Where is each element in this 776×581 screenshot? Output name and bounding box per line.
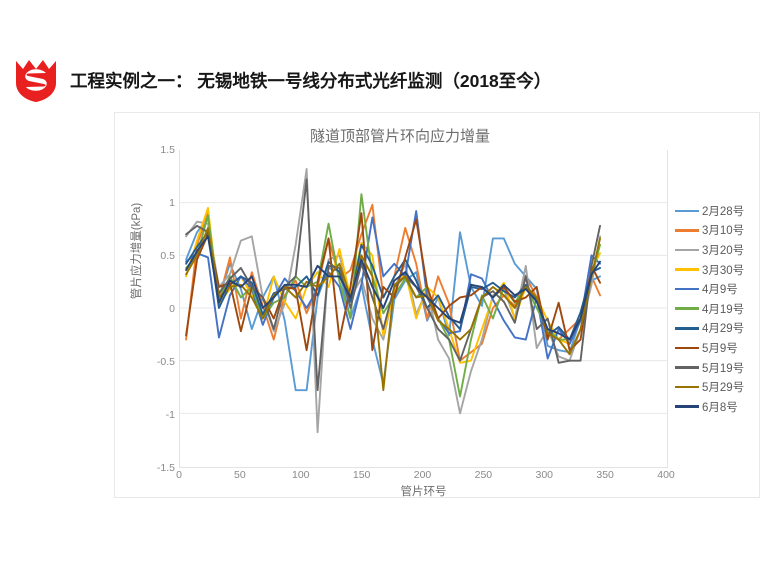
legend-item-label: 3月30号 — [702, 262, 744, 278]
x-tick-label: 350 — [585, 469, 625, 481]
legend-item-label: 2月28号 — [702, 203, 744, 219]
y-tick-label: 0.5 — [141, 250, 175, 262]
legend-item-label: 5月9号 — [702, 340, 738, 356]
legend-item[interactable]: 6月8号 — [675, 397, 761, 417]
chart-card: 隧道顶部管片环向应力增量 1.510.50-0.5-1-1.5 管片应力增量(k… — [114, 112, 760, 498]
x-tick-label: 50 — [220, 469, 260, 481]
y-tick-label: -0.5 — [141, 356, 175, 368]
legend-item[interactable]: 4月9号 — [675, 279, 761, 299]
y-tick-label: -1 — [141, 409, 175, 421]
chart-legend: 2月28号3月10号3月20号3月30号4月9号4月19号4月29号5月9号5月… — [675, 201, 761, 417]
page-title: 工程实例之一： 无锡地铁一号线分布式光纤监测（2018至今） — [70, 68, 551, 93]
y-axis-title: 管片应力增量(kPa) — [128, 186, 144, 316]
company-logo-icon — [12, 57, 60, 103]
legend-item[interactable]: 5月29号 — [675, 377, 761, 397]
legend-item-label: 6月8号 — [702, 399, 738, 415]
plot-area — [179, 150, 668, 468]
legend-color-swatch — [675, 366, 699, 369]
legend-color-swatch — [675, 307, 699, 310]
legend-item[interactable]: 5月9号 — [675, 338, 761, 358]
legend-color-swatch — [675, 249, 699, 252]
legend-item[interactable]: 4月19号 — [675, 299, 761, 319]
legend-item-label: 4月19号 — [702, 301, 744, 317]
chart-title: 隧道顶部管片环向应力增量 — [115, 125, 685, 146]
x-tick-label: 200 — [403, 469, 443, 481]
y-tick-label: 0 — [141, 303, 175, 315]
legend-item[interactable]: 5月19号 — [675, 358, 761, 378]
legend-color-swatch — [675, 229, 699, 232]
x-tick-label: 250 — [463, 469, 503, 481]
legend-item-label: 4月29号 — [702, 320, 744, 336]
legend-item[interactable]: 3月30号 — [675, 260, 761, 280]
legend-color-swatch — [675, 327, 699, 330]
legend-item-label: 4月9号 — [702, 281, 738, 297]
legend-item[interactable]: 3月10号 — [675, 221, 761, 241]
legend-item-label: 3月20号 — [702, 242, 744, 258]
legend-item-label: 3月10号 — [702, 222, 744, 238]
legend-item[interactable]: 4月29号 — [675, 319, 761, 339]
legend-color-swatch — [675, 386, 699, 389]
x-axis-title: 管片环号 — [179, 483, 668, 499]
x-tick-label: 300 — [524, 469, 564, 481]
legend-item-label: 5月19号 — [702, 360, 744, 376]
x-tick-label: 100 — [281, 469, 321, 481]
legend-item[interactable]: 3月20号 — [675, 240, 761, 260]
x-tick-label: 400 — [646, 469, 686, 481]
y-tick-label: 1.5 — [141, 144, 175, 156]
slide-header: 工程实例之一： 无锡地铁一号线分布式光纤监测（2018至今） — [0, 52, 776, 108]
legend-color-swatch — [675, 268, 699, 271]
legend-color-swatch — [675, 210, 699, 213]
legend-item[interactable]: 2月28号 — [675, 201, 761, 221]
legend-color-swatch — [675, 405, 699, 408]
line-chart-svg — [180, 150, 667, 466]
x-tick-label: 150 — [342, 469, 382, 481]
y-tick-label: 1 — [141, 197, 175, 209]
legend-color-swatch — [675, 288, 699, 291]
legend-item-label: 5月29号 — [702, 379, 744, 395]
x-tick-label: 0 — [159, 469, 199, 481]
legend-color-swatch — [675, 347, 699, 350]
